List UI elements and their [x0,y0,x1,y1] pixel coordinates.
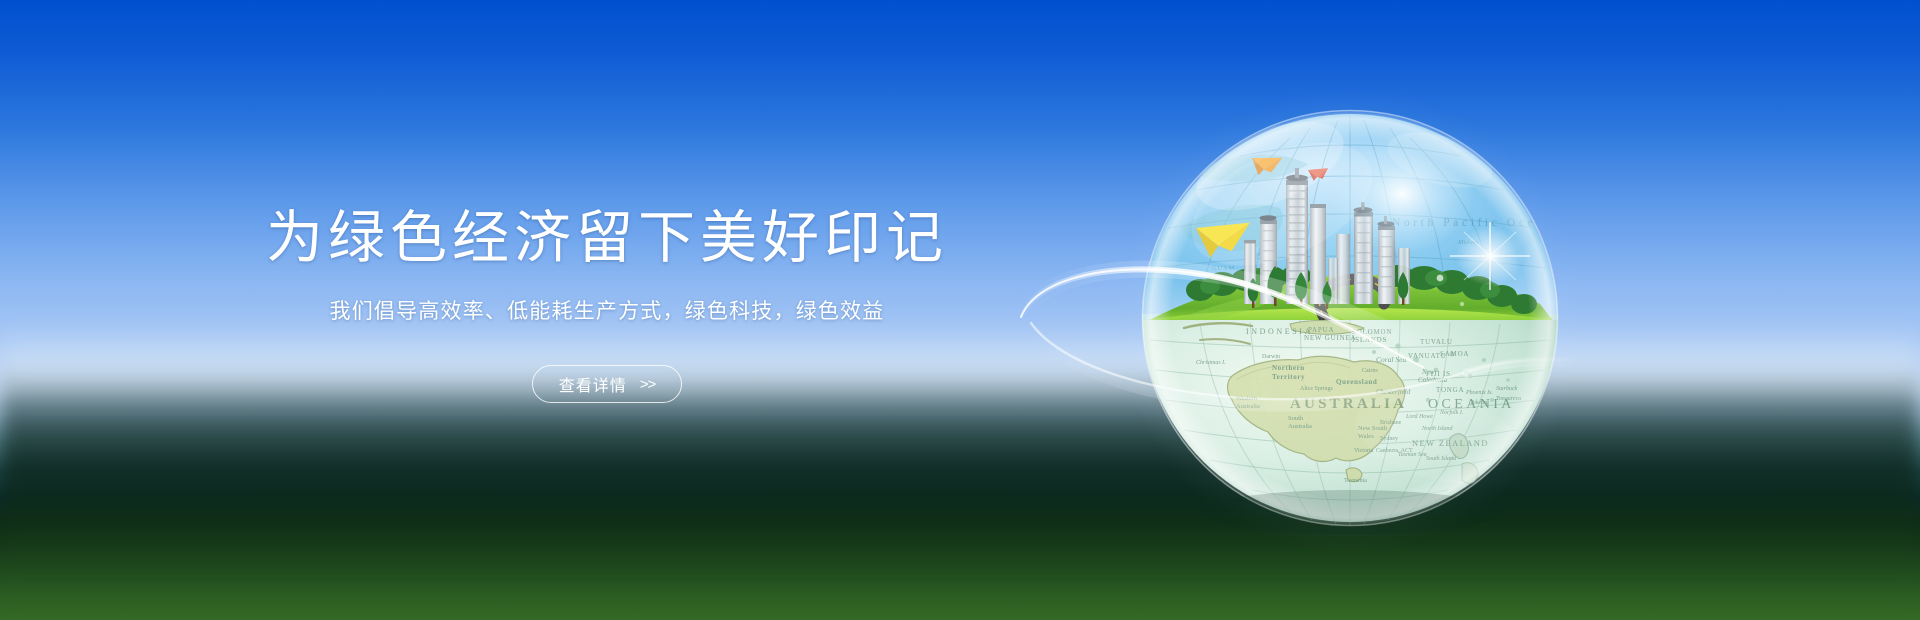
view-details-button[interactable]: 查看详情 >> [532,365,683,403]
banner-copy-block: 为绿色经济留下美好印记 我们倡导高效率、低能耗生产方式，绿色科技，绿色效益 查看… [0,0,1180,620]
view-details-label: 查看详情 [559,372,627,396]
banner-subtitle: 我们倡导高效率、低能耗生产方式，绿色科技，绿色效益 [330,295,885,325]
page-title: 为绿色经济留下美好印记 [266,207,948,270]
globe-illustration: AUSTRALIA OCEANIA NEW ZEALAND Northern T… [1140,108,1560,528]
hero-banner: AUSTRALIA OCEANIA NEW ZEALAND Northern T… [0,0,1920,620]
chevron-right-icon: >> [640,376,656,393]
